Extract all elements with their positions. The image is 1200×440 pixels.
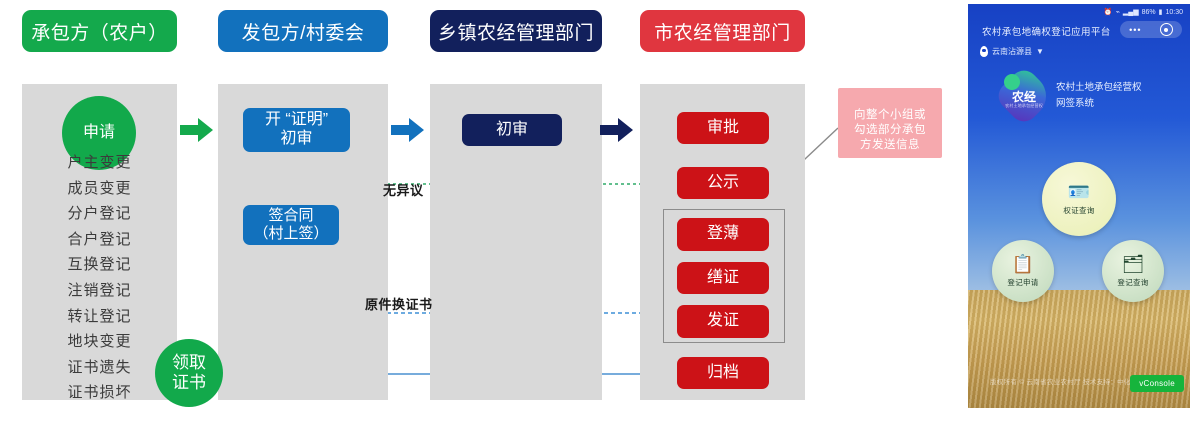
node-first-review[interactable]: 初审 bbox=[462, 114, 562, 146]
phone-button-label: 登记申请 bbox=[1007, 277, 1038, 288]
node-publicize[interactable]: 公示 bbox=[677, 167, 769, 199]
phone-button-cert-query[interactable]: 🪪 权证查询 bbox=[1042, 162, 1116, 236]
flow-arrow-2-icon bbox=[391, 117, 425, 143]
folder-search-icon: 🗂 bbox=[1122, 255, 1145, 273]
battery-icon: ▮ bbox=[1159, 8, 1163, 16]
alarm-icon: ⏰ bbox=[1104, 8, 1113, 16]
logo-mark-subtext: 农村土地承包经营权 bbox=[1002, 103, 1046, 109]
list-item[interactable]: 转让登记 bbox=[67, 304, 131, 330]
list-item[interactable]: 户主变更 bbox=[67, 150, 131, 176]
node-label: 初审 bbox=[496, 121, 528, 140]
phone-app-title: 农村承包地确权登记应用平台 bbox=[982, 24, 1111, 38]
callout-send-message: 向整个小组或 勾选部分承包 方发送信息 bbox=[838, 88, 942, 158]
column-header-issuer[interactable]: 发包方/村委会 bbox=[218, 10, 388, 52]
edge-label-no-objection: 无异议 bbox=[383, 180, 424, 199]
list-item[interactable]: 分户登记 bbox=[67, 201, 131, 227]
node-approve[interactable]: 审批 bbox=[677, 112, 769, 144]
list-item[interactable]: 互换登记 bbox=[67, 252, 131, 278]
list-item[interactable]: 证书遗失 bbox=[67, 355, 131, 381]
phone-button-label: 登记查询 bbox=[1117, 277, 1148, 288]
apply-circle-label: 申请 bbox=[83, 124, 115, 142]
vconsole-button[interactable]: vConsole bbox=[1130, 375, 1184, 392]
flow-arrow-1-icon bbox=[180, 117, 214, 143]
phone-button-register-apply[interactable]: 📋 登记申请 bbox=[992, 240, 1054, 302]
app-logo-block: 农经 农村土地承包经营权 农村土地承包经营权 网签系统 bbox=[1002, 74, 1142, 118]
receive-certificate-circle[interactable]: 领取 证书 bbox=[155, 339, 223, 407]
node-label: 登薄 bbox=[707, 225, 739, 244]
receive-certificate-label: 领取 证书 bbox=[172, 353, 206, 392]
column-header-label: 承包方（农户） bbox=[31, 18, 168, 45]
contractor-item-list: 户主变更 成员变更 分户登记 合户登记 互换登记 注销登记 转让登记 地块变更 … bbox=[22, 150, 177, 406]
node-label: 审批 bbox=[707, 119, 739, 138]
node-label: 发证 bbox=[707, 312, 739, 331]
node-label: 归档 bbox=[707, 364, 739, 383]
location-pin-icon bbox=[980, 46, 988, 57]
column-header-township[interactable]: 乡镇农经管理部门 bbox=[430, 10, 602, 52]
column-header-city[interactable]: 市农经管理部门 bbox=[640, 10, 805, 52]
close-target-icon[interactable] bbox=[1160, 23, 1173, 36]
node-label: 缮证 bbox=[707, 269, 739, 288]
node-label: 开 “证明” 初审 bbox=[265, 111, 328, 149]
nongjing-logo-icon: 农经 农村土地承包经营权 bbox=[1002, 74, 1046, 118]
more-icon[interactable]: ••• bbox=[1129, 25, 1141, 35]
list-item[interactable]: 地块变更 bbox=[67, 329, 131, 355]
status-time: 10:30 bbox=[1165, 9, 1183, 16]
node-issue-certificate[interactable]: 发证 bbox=[677, 305, 769, 338]
phone-status-bar: ⏰ ⌁ ▂▄▆ 86% ▮ 10:30 bbox=[968, 4, 1190, 20]
list-item[interactable]: 注销登记 bbox=[67, 278, 131, 304]
list-item[interactable]: 合户登记 bbox=[67, 227, 131, 253]
certificate-search-icon: 🪪 bbox=[1068, 183, 1090, 201]
logo-title-text: 农村土地承包经营权 网签系统 bbox=[1056, 80, 1142, 112]
phone-button-register-query[interactable]: 🗂 登记查询 bbox=[1102, 240, 1164, 302]
node-sign-contract[interactable]: 签合同 （村上签） bbox=[243, 205, 339, 245]
phone-button-label: 权证查询 bbox=[1063, 205, 1094, 216]
node-register-book[interactable]: 登薄 bbox=[677, 218, 769, 251]
node-label: 公示 bbox=[707, 174, 739, 193]
phone-mockup: ⏰ ⌁ ▂▄▆ 86% ▮ 10:30 农村承包地确权登记应用平台 ••• 云南… bbox=[968, 4, 1190, 408]
location-selector[interactable]: 云南沾源县 ▼ bbox=[980, 46, 1044, 57]
signal-icon: ▂▄▆ bbox=[1123, 8, 1139, 16]
location-label: 云南沾源县 bbox=[992, 46, 1032, 57]
flow-arrow-3-icon bbox=[600, 117, 634, 143]
column-header-label: 市农经管理部门 bbox=[654, 18, 791, 45]
clipboard-pen-icon: 📋 bbox=[1012, 255, 1034, 273]
flowchart-page: 承包方（农户） 发包方/村委会 乡镇农经管理部门 市农经管理部门 申请 户主变更… bbox=[0, 0, 1200, 440]
column-header-label: 发包方/村委会 bbox=[242, 18, 365, 45]
column-header-label: 乡镇农经管理部门 bbox=[438, 18, 594, 45]
callout-text: 向整个小组或 勾选部分承包 方发送信息 bbox=[854, 109, 926, 151]
node-open-certificate[interactable]: 开 “证明” 初审 bbox=[243, 108, 350, 152]
column-header-contractor[interactable]: 承包方（农户） bbox=[22, 10, 177, 52]
node-archive[interactable]: 归档 bbox=[677, 357, 769, 389]
battery-percent: 86% bbox=[1142, 9, 1156, 16]
node-label: 签合同 （村上签） bbox=[253, 207, 328, 242]
edge-label-exchange-original: 原件换证书 bbox=[365, 294, 433, 313]
miniprogram-capsule[interactable]: ••• bbox=[1120, 21, 1182, 38]
list-item[interactable]: 证书损坏 bbox=[67, 380, 131, 406]
chevron-down-icon[interactable]: ▼ bbox=[1036, 47, 1044, 56]
list-item[interactable]: 成员变更 bbox=[67, 176, 131, 202]
wifi-icon: ⌁ bbox=[1116, 8, 1120, 16]
node-make-certificate[interactable]: 缮证 bbox=[677, 262, 769, 294]
